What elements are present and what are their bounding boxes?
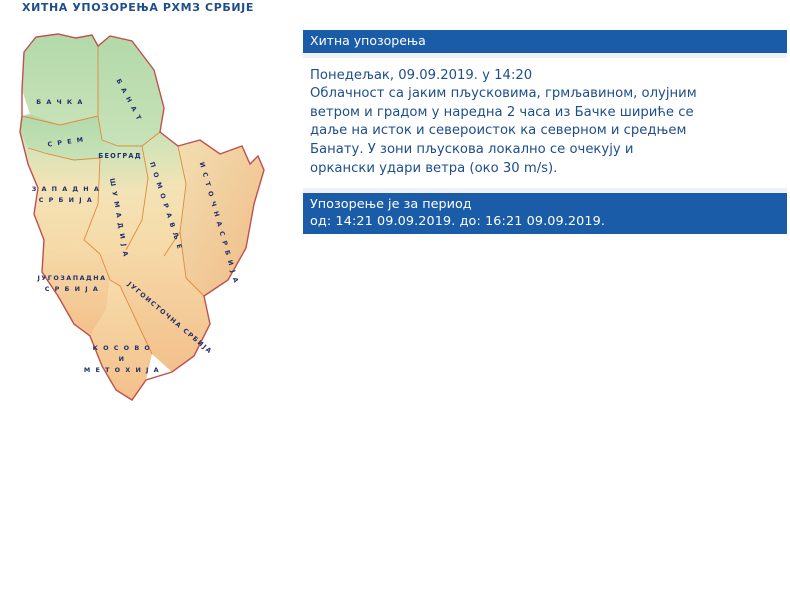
map-label-backa: Б А Ч К А	[36, 98, 84, 106]
map-label-kosovo-1: К О С О В О	[93, 344, 152, 352]
map-label-jugozapadna-2: С Р Б И Ј А	[45, 285, 100, 293]
warning-body: Понедељак, 09.09.2019. у 14:20 Облачност…	[303, 58, 787, 189]
warning-line-4: Банату. У зони пљускова локално се очеку…	[310, 141, 780, 160]
warning-header: Хитна упозорења	[303, 30, 787, 53]
warning-panel: Хитна упозорења Понедељак, 09.09.2019. у…	[303, 30, 787, 234]
map-label-zapadna-2: С Р Б И Ј А	[39, 196, 94, 204]
period-header: Упозорење је за период	[310, 196, 780, 213]
page-title: ХИТНА УПОЗОРЕЊА РХМЗ СРБИЈЕ	[22, 1, 254, 14]
period-detail: од: 14:21 09.09.2019. до: 16:21 09.09.20…	[310, 213, 780, 230]
warning-period-panel: Упозорење је за период од: 14:21 09.09.2…	[303, 193, 787, 234]
map-region-backa	[22, 34, 98, 125]
warning-line-issued: Понедељак, 09.09.2019. у 14:20	[310, 67, 780, 86]
map-label-jugozapadna-1: ЈУГОЗАПАДНА	[36, 274, 106, 282]
map-label-zapadna-1: З А П А Д Н А	[32, 185, 101, 193]
map-label-kosovo-2: И	[119, 355, 126, 363]
map-label-kosovo-3: М Е Т О Х И Ј А	[84, 366, 160, 374]
warning-line-3: даље на исток и североисток ка северном …	[310, 122, 780, 141]
warning-line-1: Облачност са јаким пљусковима, грмљавино…	[310, 85, 780, 104]
serbia-map: Б А Ч К А Б А Н А Т С Р Е М З А П А Д Н …	[14, 28, 298, 406]
map-label-capital-beograd: БЕОГРАД	[98, 152, 142, 160]
warning-line-5: оркански удари ветра (око 30 m/s).	[310, 160, 780, 179]
warning-line-2: ветром и градом у наредна 2 часа из Бачк…	[310, 104, 780, 123]
map-svg: Б А Ч К А Б А Н А Т С Р Е М З А П А Д Н …	[14, 28, 298, 406]
map-region-banat	[98, 36, 164, 146]
